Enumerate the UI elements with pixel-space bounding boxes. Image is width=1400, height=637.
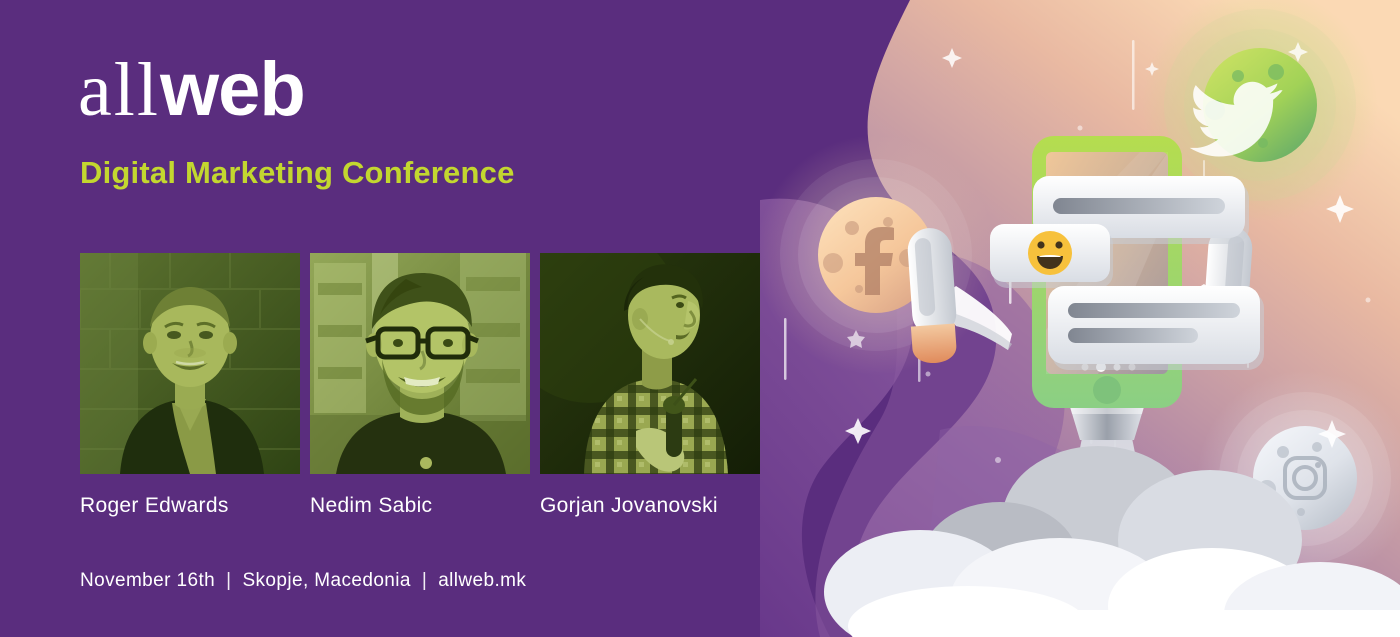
chat-bubble-lower [1048,286,1264,370]
speaker-name: Gorjan Jovanovski [540,494,760,518]
logo-text-bold: web [160,47,305,132]
speakers-list: Roger Edwards [80,253,760,518]
footer-separator: | [422,570,427,592]
facebook-planet [760,135,996,375]
allweb-conference-banner: allweb Digital Marketing Conference [0,0,1400,637]
event-website[interactable]: allweb.mk [438,570,526,592]
speaker-name: Roger Edwards [80,494,300,518]
grinning-emoji [1028,231,1072,275]
speaker-photo-nedim-sabic [310,253,530,474]
speaker-card: Gorjan Jovanovski [540,253,760,518]
speaker-name: Nedim Sabic [310,494,530,518]
event-date: November 16th [80,570,215,592]
speaker-card: Nedim Sabic [310,253,530,518]
speaker-card: Roger Edwards [80,253,300,518]
speaker-photo-roger-edwards [80,253,300,474]
banner-content: allweb Digital Marketing Conference [0,0,790,637]
footer-separator: | [226,570,231,592]
allweb-logo: allweb [78,52,305,128]
conference-subtitle: Digital Marketing Conference [80,155,515,191]
event-footer: November 16th | Skopje, Macedonia | allw… [80,570,526,592]
chat-bubble-emoji [990,224,1113,288]
event-location: Skopje, Macedonia [242,570,410,592]
speaker-photo-gorjan-jovanovski [540,253,760,474]
logo-text-light: all [78,48,160,132]
space-rocket-illustration [760,0,1400,637]
